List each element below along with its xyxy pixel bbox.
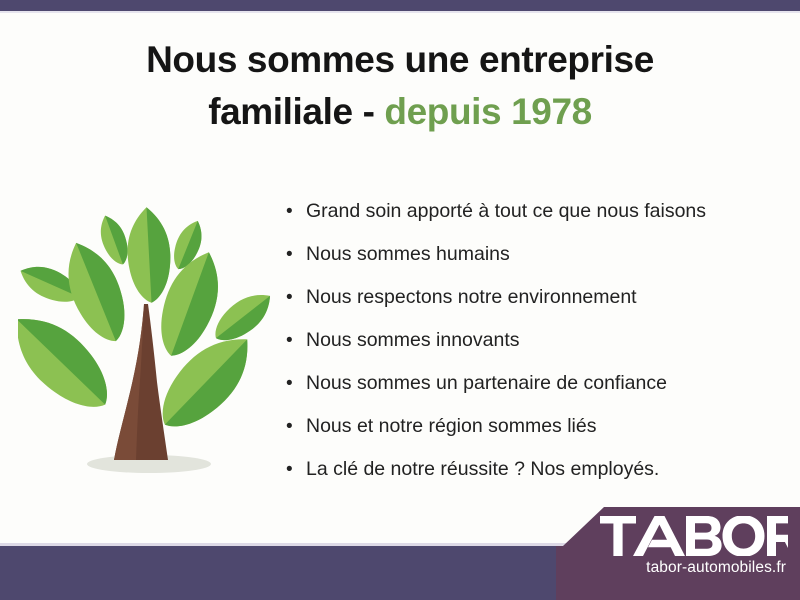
bullet-marker-icon: • [286,233,306,276]
list-item-label: Nous sommes humains [306,233,510,276]
list-item-label: Nous et notre région sommes liés [306,405,596,448]
brand-logo-panel[interactable]: tabor-automobiles.fr [556,505,800,600]
top-accent-hairline [0,11,800,13]
list-item: • Nous respectons notre environnement [286,276,786,319]
slide-title: Nous sommes une entreprise familiale - d… [0,34,800,138]
bullet-marker-icon: • [286,448,306,491]
tree-illustration [18,192,280,492]
logo-wordmark [600,516,788,556]
list-item: • Nous sommes innovants [286,319,786,362]
list-item: • Nous sommes humains [286,233,786,276]
list-item-label: Nous respectons notre environnement [306,276,637,319]
list-item: • Nous et notre région sommes liés [286,405,786,448]
title-line-2-prefix: familiale [208,91,352,132]
bullet-marker-icon: • [286,319,306,362]
list-item-label: Grand soin apporté à tout ce que nous fa… [306,190,706,233]
bullet-marker-icon: • [286,405,306,448]
logo-stack: tabor-automobiles.fr [556,505,800,600]
list-item: • La clé de notre réussite ? Nos employé… [286,448,786,491]
bullet-marker-icon: • [286,276,306,319]
logo-domain-text: tabor-automobiles.fr [556,559,800,577]
slide-canvas: Nous sommes une entreprise familiale - d… [0,0,800,600]
title-line-2: familiale - depuis 1978 [0,86,800,138]
top-accent-bar [0,0,800,11]
list-item-label: Nous sommes un partenaire de confiance [306,362,667,405]
title-line-1: Nous sommes une entreprise [0,34,800,86]
bullet-marker-icon: • [286,190,306,233]
bullet-marker-icon: • [286,362,306,405]
tree-leaf-center-top [125,206,173,304]
list-item-label: Nous sommes innovants [306,319,520,362]
list-item-label: La clé de notre réussite ? Nos employés. [306,448,659,491]
list-item: • Grand soin apporté à tout ce que nous … [286,190,786,233]
bullet-list: • Grand soin apporté à tout ce que nous … [286,190,786,491]
title-line-2-dash: - [363,91,375,132]
title-line-2-accent: depuis 1978 [384,91,591,132]
list-item: • Nous sommes un partenaire de confiance [286,362,786,405]
